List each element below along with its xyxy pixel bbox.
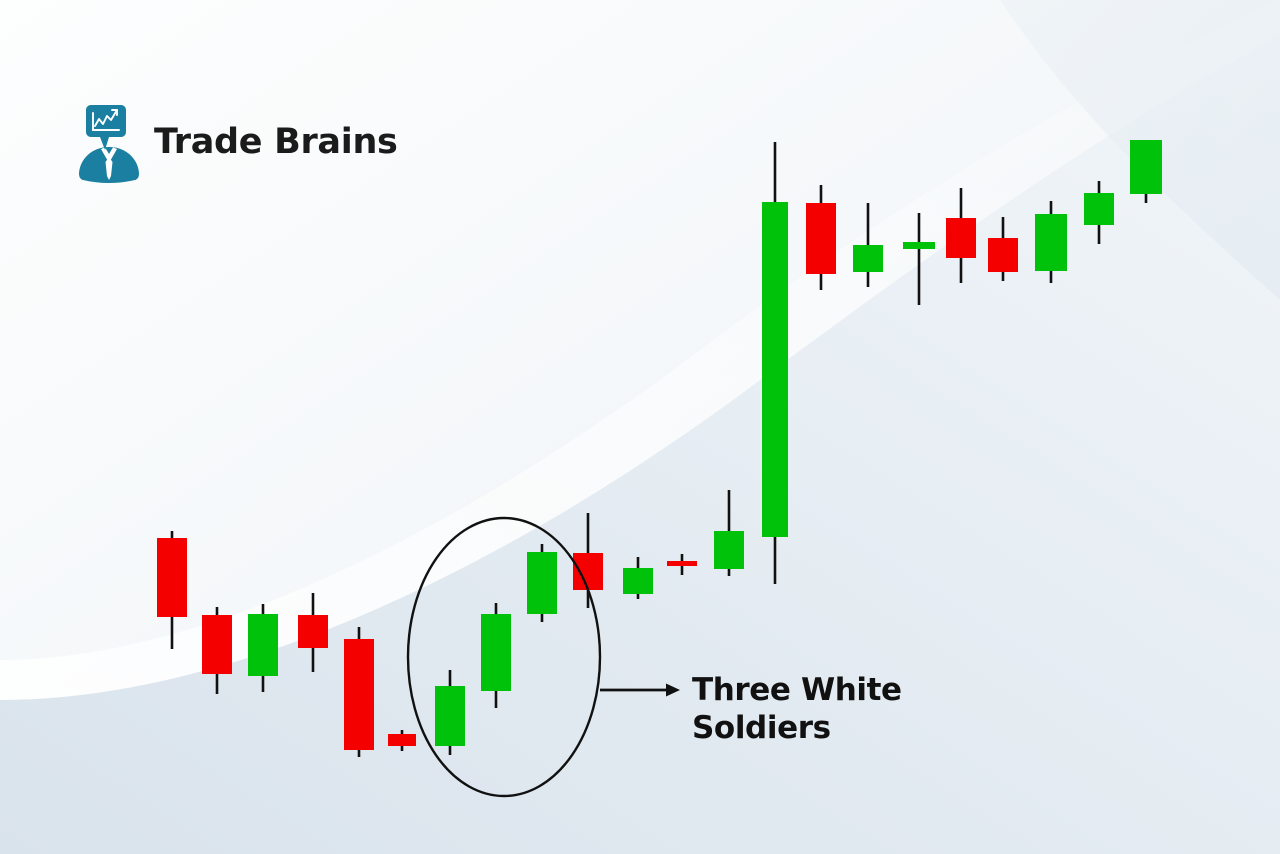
candle-13-bullish xyxy=(762,142,788,584)
candle-body xyxy=(667,561,697,566)
candle-5-bearish xyxy=(388,730,416,751)
candle-body xyxy=(527,552,557,614)
candle-17-bearish xyxy=(946,188,976,283)
candle-21-bullish xyxy=(1130,140,1162,203)
candle-body xyxy=(1130,140,1162,194)
candle-series xyxy=(157,140,1162,757)
candle-12-bullish xyxy=(714,490,744,576)
ellipse-highlight xyxy=(408,518,600,796)
candle-10-bullish xyxy=(623,557,653,599)
annotation-label: Three White Soldiers xyxy=(692,672,992,748)
candle-body xyxy=(435,686,465,746)
candle-body xyxy=(946,218,976,258)
candle-body xyxy=(903,242,935,249)
candle-body xyxy=(988,238,1018,272)
candle-1-bearish xyxy=(202,607,232,694)
candle-16-bullish xyxy=(903,213,935,305)
candle-body xyxy=(248,614,278,676)
candle-body xyxy=(714,531,744,569)
candle-4-bearish xyxy=(344,627,374,757)
candle-body xyxy=(573,553,603,590)
candle-0-bearish xyxy=(157,531,187,649)
candle-19-bullish xyxy=(1035,201,1067,283)
candle-18-bearish xyxy=(988,217,1018,281)
candlestick-infographic: Trade Brains Three White Soldiers xyxy=(0,0,1280,854)
candle-15-bullish xyxy=(853,203,883,287)
candle-body xyxy=(806,203,836,274)
candle-body xyxy=(298,615,328,648)
annotation-label-line1: Three White xyxy=(692,672,992,710)
candle-body xyxy=(202,615,232,674)
candle-7-bullish xyxy=(481,603,511,708)
candle-body xyxy=(623,568,653,594)
candle-body xyxy=(762,202,788,537)
candle-body xyxy=(157,538,187,617)
annotation-label-line2: Soldiers xyxy=(692,710,992,748)
candle-body xyxy=(1035,214,1067,271)
candle-11-bearish xyxy=(667,554,697,575)
candle-body xyxy=(388,734,416,746)
candlestick-chart xyxy=(0,0,1280,854)
candle-8-bullish xyxy=(527,544,557,622)
arrow-right-icon xyxy=(600,684,680,697)
candle-2-bullish xyxy=(248,604,278,692)
candle-14-bearish xyxy=(806,185,836,290)
candle-9-bearish xyxy=(573,513,603,608)
candle-body xyxy=(853,245,883,272)
candle-3-bearish xyxy=(298,593,328,672)
candle-body xyxy=(1084,193,1114,225)
candle-20-bullish xyxy=(1084,181,1114,244)
candle-body xyxy=(344,639,374,750)
candle-body xyxy=(481,614,511,691)
candle-6-bullish xyxy=(435,670,465,755)
